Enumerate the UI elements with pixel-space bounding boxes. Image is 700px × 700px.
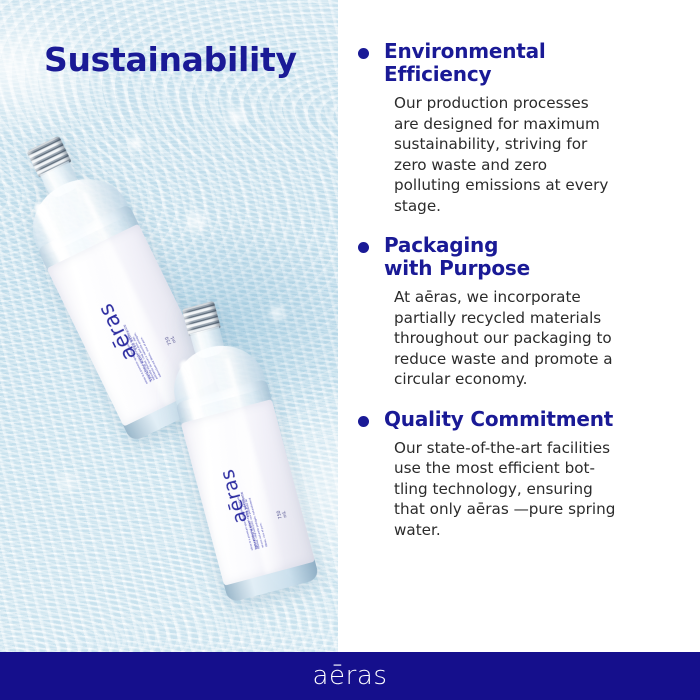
section-title: Packaging with Purpose [384, 234, 676, 280]
bottle-background: aēras sparkling water · eau pétillante a… [149, 292, 322, 604]
hero-water-image: aēras sparkling water · eau pétillante a… [0, 0, 338, 652]
label-volume: 750 mL [274, 502, 288, 519]
sustainability-page: aēras sparkling water · eau pétillante a… [0, 0, 700, 700]
page-title: Sustainability [44, 40, 297, 79]
bottle-label: aēras sparkling water · eau pétillante a… [181, 399, 315, 586]
section-body: Our production processes are designed fo… [394, 93, 676, 216]
section-body: At aēras, we incorporate partially recyc… [394, 287, 676, 389]
section-environmental-efficiency: Environmental Efficiency Our production … [356, 40, 676, 216]
section-packaging-with-purpose: Packaging with Purpose At aēras, we inco… [356, 234, 676, 390]
brand-logo: aēras [312, 661, 387, 691]
section-title: Environmental Efficiency [384, 40, 676, 86]
content-panel: Environmental Efficiency Our production … [338, 0, 700, 652]
bullet-icon [358, 242, 369, 253]
footer-bar: aēras [0, 652, 700, 700]
bullet-icon [358, 416, 369, 427]
section-body: Our state-of-the-art facilities use the … [394, 438, 676, 540]
section-quality-commitment: Quality Commitment Our state-of-the-art … [356, 408, 676, 540]
bullet-icon [358, 48, 369, 59]
section-title: Quality Commitment [384, 408, 676, 431]
